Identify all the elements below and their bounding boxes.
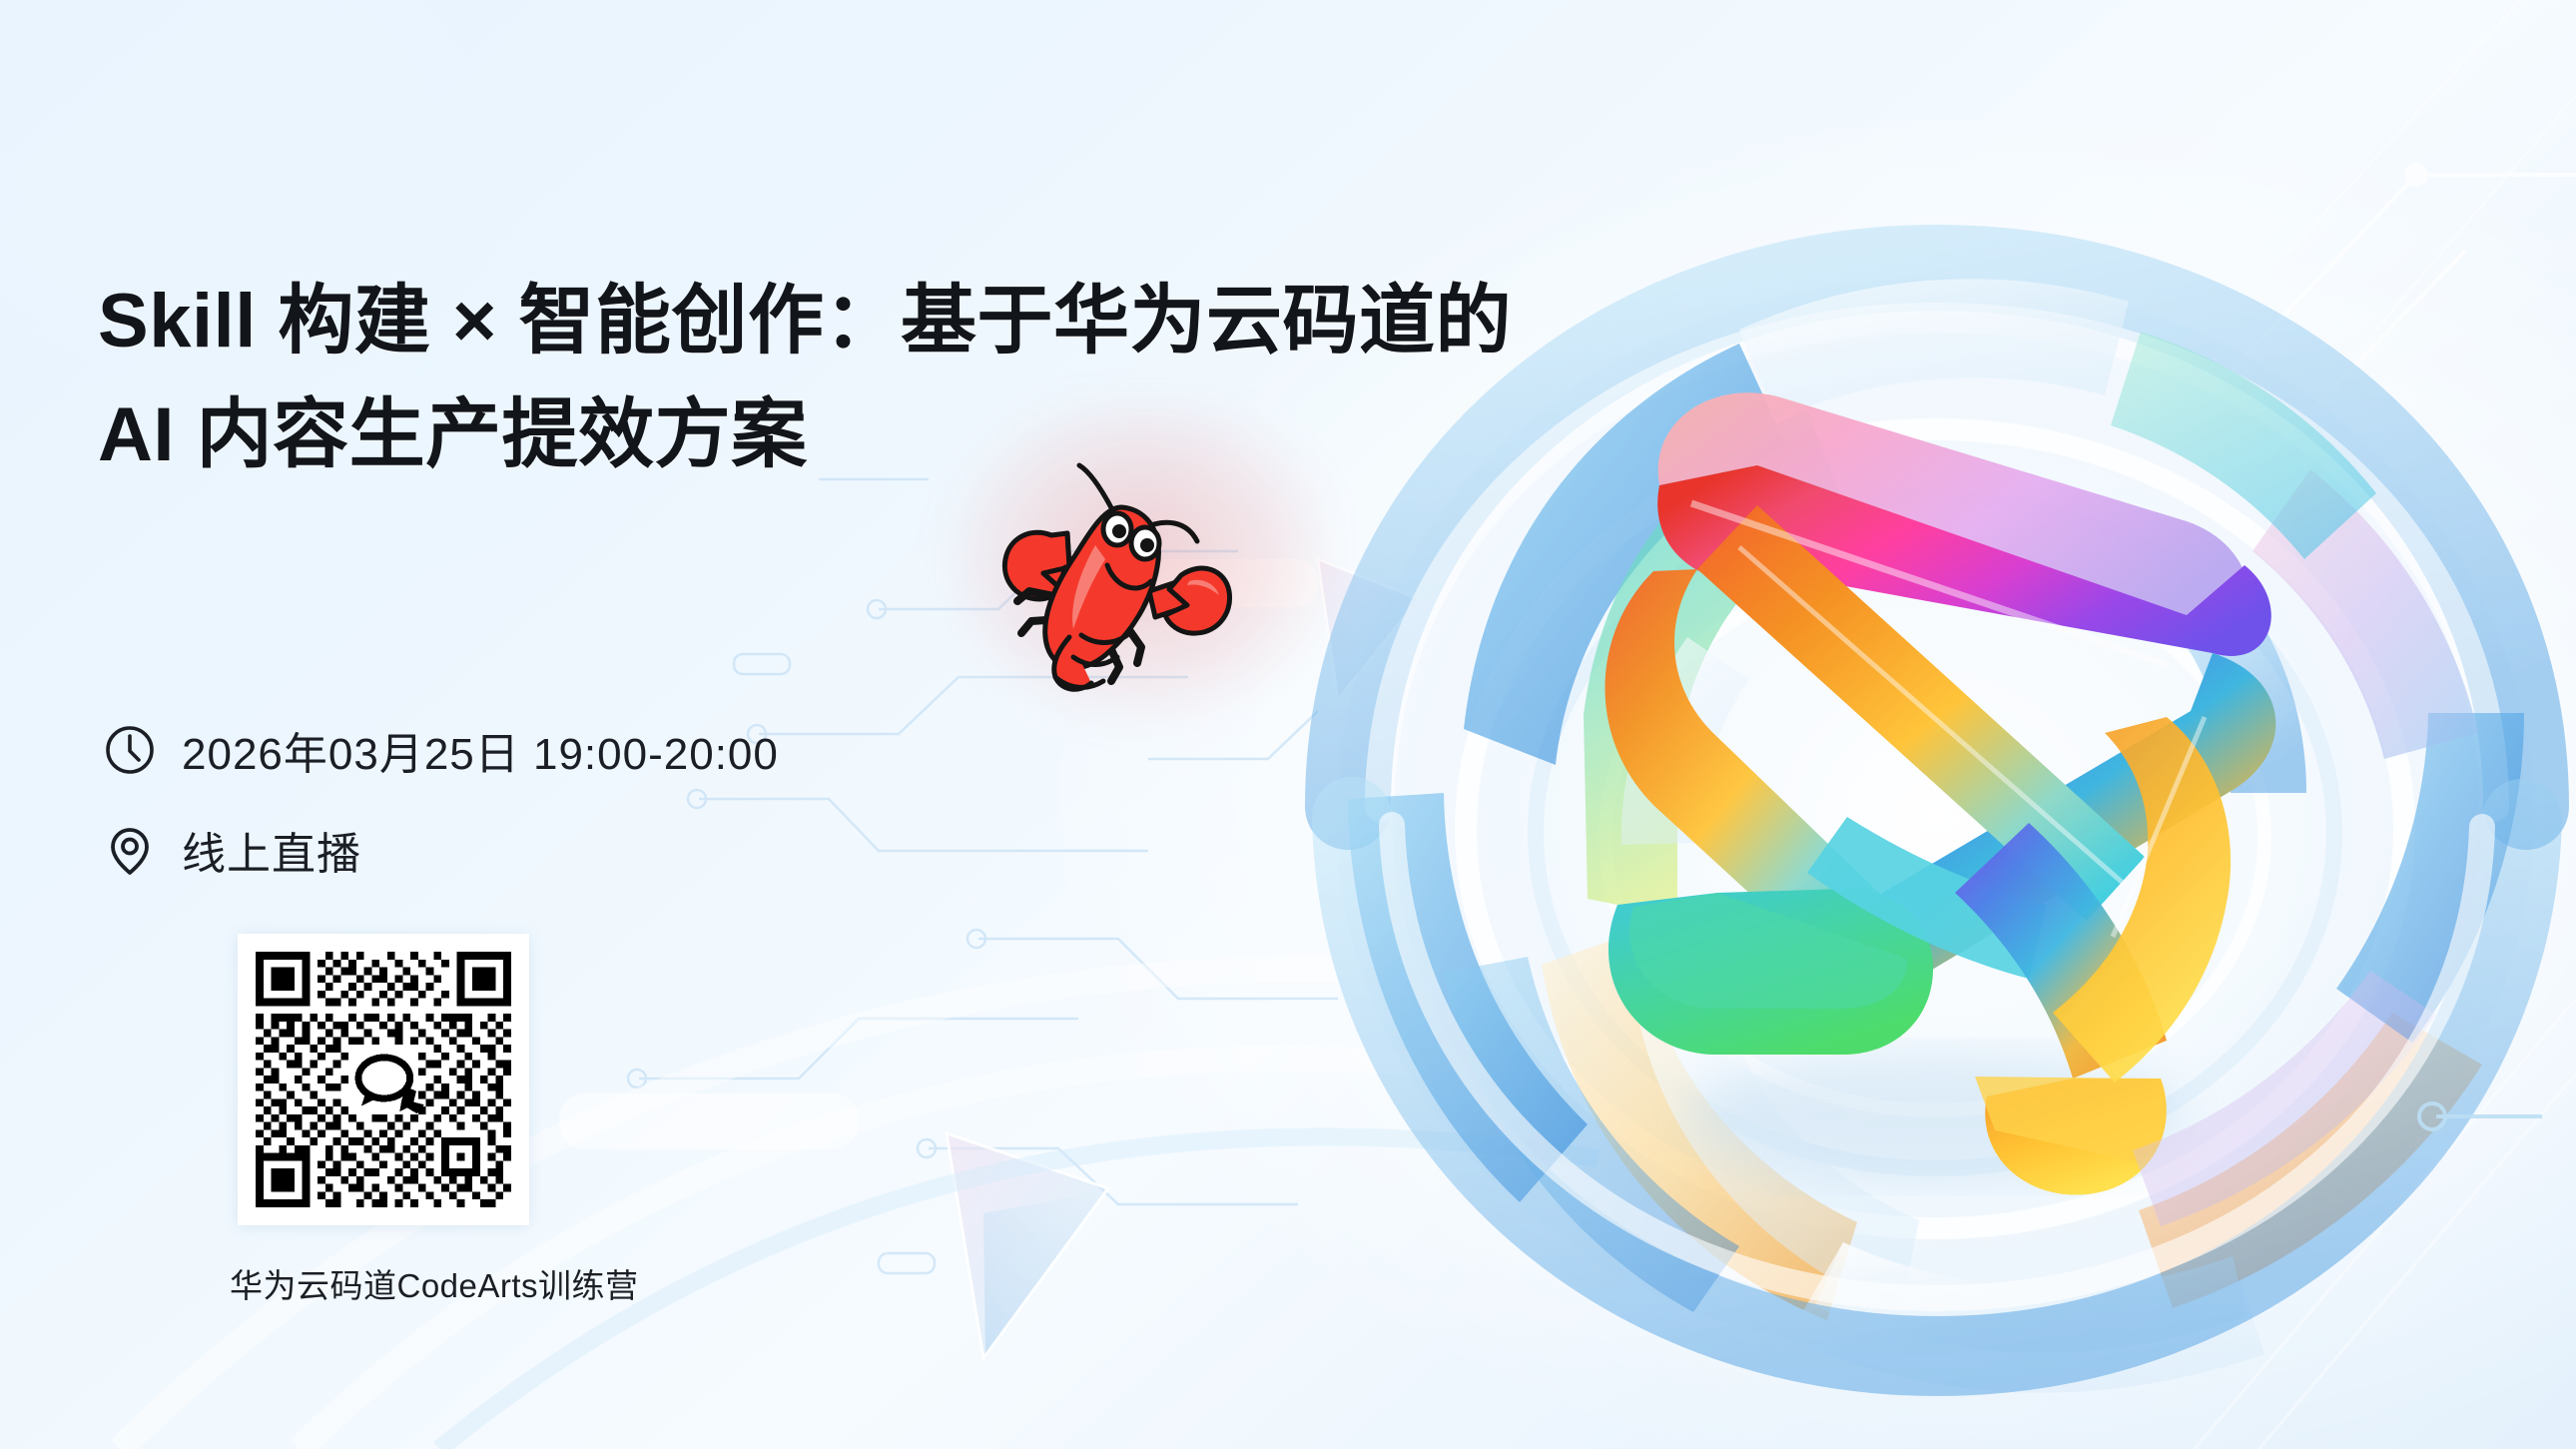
promo-banner: Skill 构建 × 智能创作：基于华为云码道的 AI 内容生产提效方案 202…: [0, 0, 2576, 1449]
content-column: Skill 构建 × 智能创作：基于华为云码道的 AI 内容生产提效方案 202…: [0, 0, 1298, 1449]
event-datetime-text: 2026年03月25日 19:00-20:00: [182, 718, 779, 782]
title-line-2: AI 内容生产提效方案: [98, 381, 1276, 489]
qr-section: 华为云码道CodeArts训练营: [238, 934, 529, 1307]
qr-caption: 华为云码道CodeArts训练营: [230, 1259, 521, 1307]
event-meta: 2026年03月25日 19:00-20:00 线上直播: [104, 711, 779, 889]
title-line-1: Skill 构建 × 智能创作：基于华为云码道的: [98, 268, 1276, 375]
qr-code-card[interactable]: [238, 934, 529, 1225]
clock-icon: [104, 724, 156, 776]
event-location-row: 线上直播: [104, 811, 779, 889]
speech-bubble-icon: [348, 1045, 424, 1114]
qr-code-icon[interactable]: [256, 952, 511, 1207]
page-title: Skill 构建 × 智能创作：基于华为云码道的 AI 内容生产提效方案: [98, 268, 1276, 489]
location-pin-icon: [104, 824, 156, 876]
event-location-text: 线上直播: [182, 818, 361, 882]
event-datetime-row: 2026年03月25日 19:00-20:00: [104, 711, 779, 789]
